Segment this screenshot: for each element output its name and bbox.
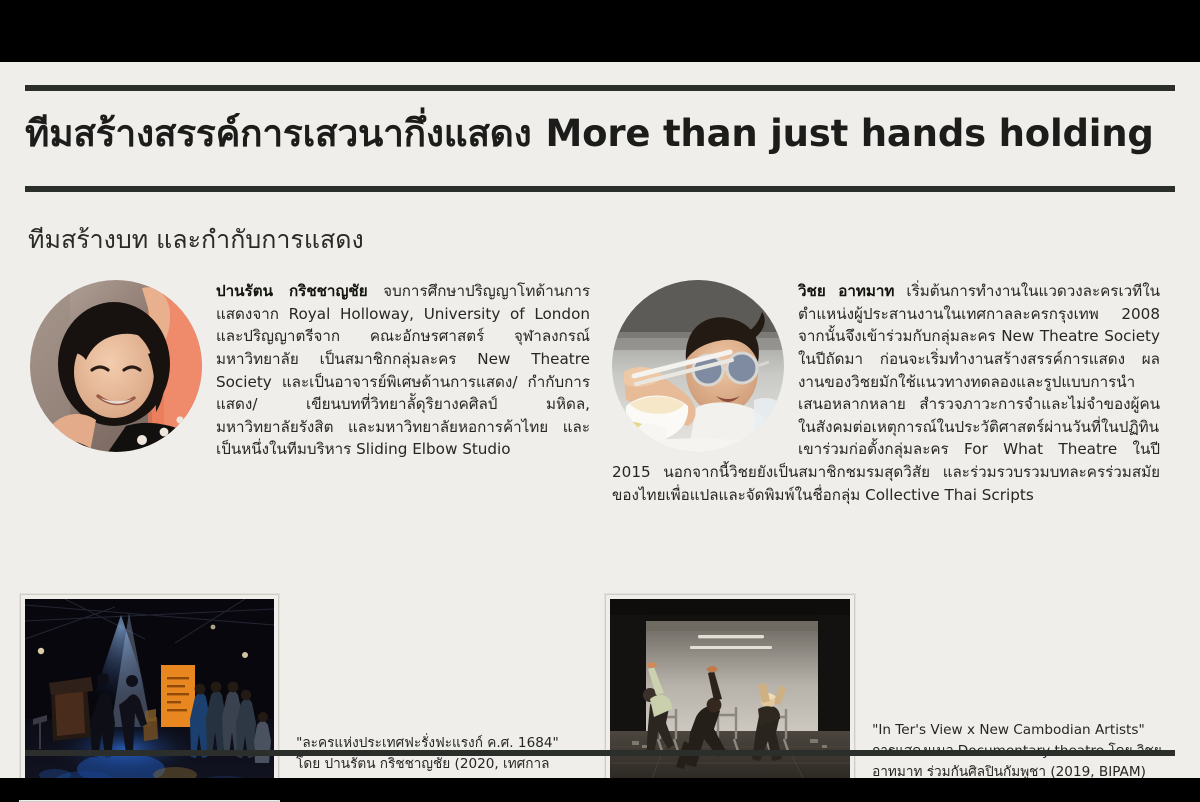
bio-block-right: วิชย อาทมาท เริ่มต้นการทำงานในแวดวงละครเ… xyxy=(612,280,1160,506)
bio-body-left: จบการศึกษาปริญญาโทด้านการแสดงจาก Royal H… xyxy=(216,282,590,458)
letterbox-bottom xyxy=(0,778,1200,800)
portrait-photo-icon xyxy=(30,280,202,452)
photo-frame-left xyxy=(20,594,279,802)
bio-block-left: ปานรัตน กริชชาญชัย จบการศึกษาปริญญาโทด้า… xyxy=(30,280,590,461)
page-title-thai: ทีมสร้างสรรค์การเสวนากึ่งแสดง xyxy=(25,112,531,155)
caption-line-1: "In Ter's View x New Cambodian Artists" xyxy=(872,720,1157,741)
bio-name-right: วิชย อาทมาท xyxy=(798,282,894,300)
section-subheading: ทีมสร้างบท และกำกับการแสดง xyxy=(28,220,364,260)
slide-stage: ทีมสร้างสรรค์การเสวนากึ่งแสดงMore than j… xyxy=(0,0,1200,800)
stage-photo-dance xyxy=(610,599,850,784)
page-title-english: More than just hands holding xyxy=(545,112,1153,155)
figure-left: "ละครแห่งประเทศฟะรั่งฟะแรงก์ ค.ศ. 1684" … xyxy=(20,594,582,802)
stage-photo-image xyxy=(25,599,274,797)
portrait-photo-icon xyxy=(612,280,784,452)
bio-name-left: ปานรัตน กริชชาญชัย xyxy=(216,282,368,300)
figure-right: "In Ter's View x New Cambodian Artists" … xyxy=(605,594,1157,789)
avatar-wichaya xyxy=(612,280,784,452)
divider-top xyxy=(25,85,1175,91)
stage-photo-image xyxy=(610,599,850,784)
avatar-panrat xyxy=(30,280,202,452)
caption-line-2: โดย ปานรัตน กริชชาญชัย (2020, เทศกาล xyxy=(296,754,582,775)
photo-frame-right xyxy=(605,594,855,789)
divider-under-title xyxy=(25,186,1175,192)
divider-bottom xyxy=(25,750,1175,756)
page-title: ทีมสร้างสรรค์การเสวนากึ่งแสดงMore than j… xyxy=(25,104,1175,163)
stage-photo-blue xyxy=(25,599,274,797)
slide-canvas: ทีมสร้างสรรค์การเสวนากึ่งแสดงMore than j… xyxy=(0,62,1200,778)
letterbox-top xyxy=(0,0,1200,62)
